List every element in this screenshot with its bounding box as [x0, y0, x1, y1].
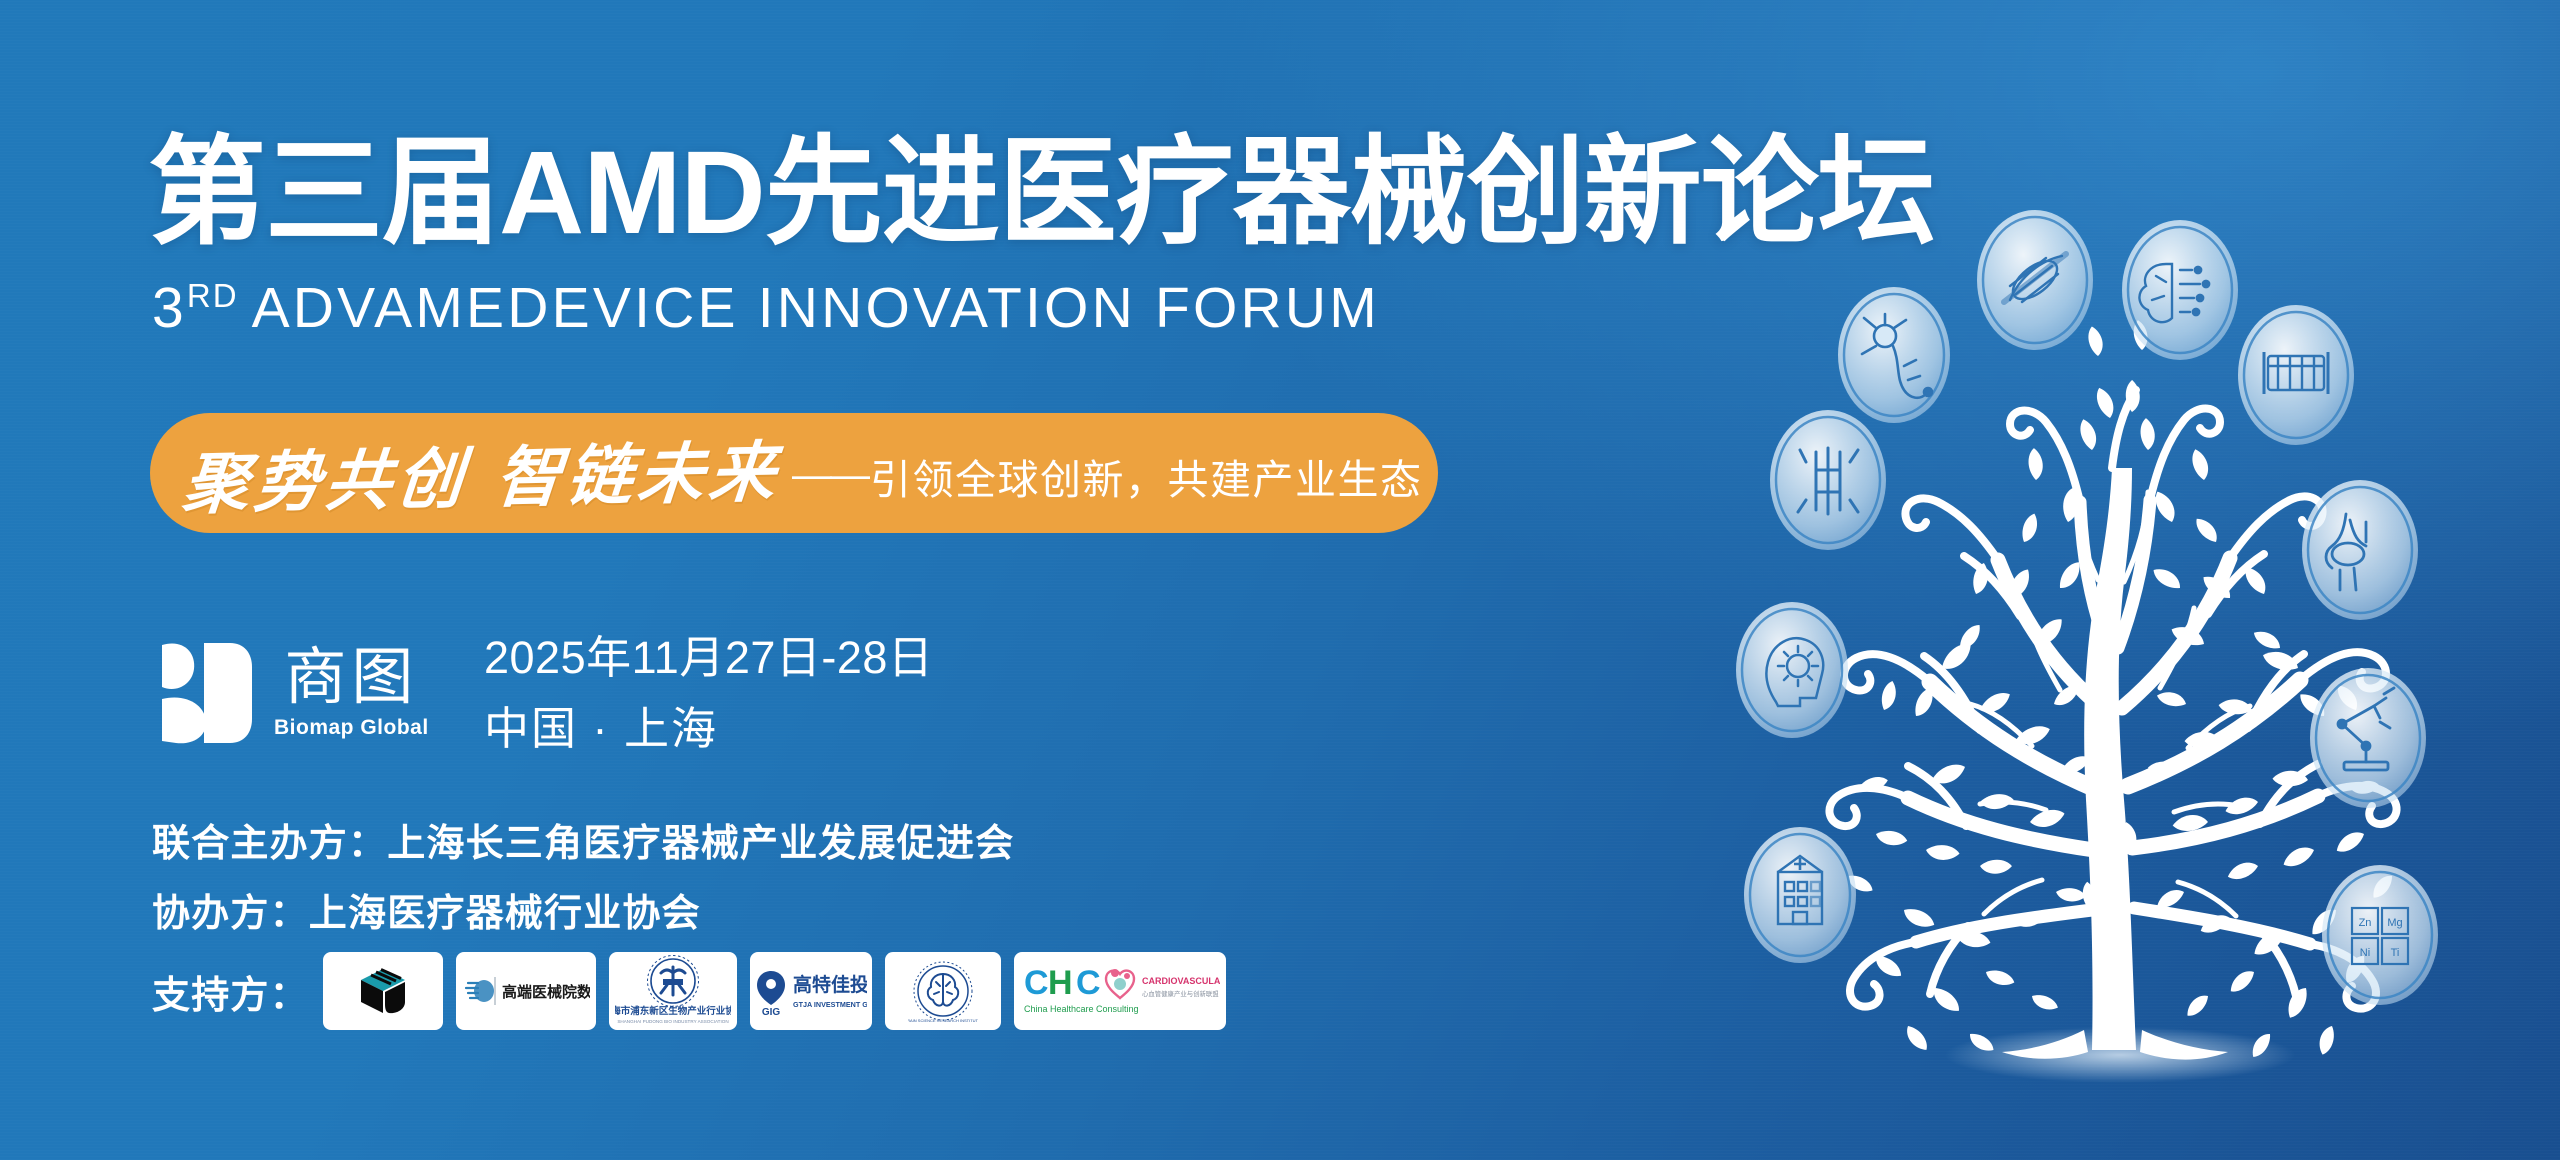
- supporter-logo-data-center[interactable]: 高端医械院数据中心: [456, 952, 596, 1030]
- supporter-3-text: 上海市浦东新区生物产业行业协会: [615, 1005, 731, 1017]
- biomap-wordmark: 商图 Biomap Global: [274, 645, 429, 739]
- medical-innovation-tree-artwork: Zn Mg Ni Ti: [1680, 150, 2560, 1160]
- svg-text:Ni: Ni: [2360, 947, 2370, 959]
- biomap-mark-icon: [152, 637, 260, 749]
- title-ordinal-suffix: RD: [187, 279, 239, 312]
- supporters-row: 支持方： 高端医械院数据中心: [152, 952, 1239, 1030]
- co-organizer-line: 协办方：上海医疗器械行业协会: [152, 882, 701, 937]
- svg-text:H: H: [1048, 964, 1073, 1002]
- svg-text:C: C: [1076, 964, 1101, 1002]
- supporter-6-partner-en: CARDIOVASCULAR LEAGUE: [1142, 976, 1220, 986]
- slogan-banner: 聚势共创 智链未来 —— 引领全球创新，共建产业生态: [150, 413, 1438, 533]
- slogan-subtitle: 引领全球创新，共建产业生态: [870, 446, 1423, 506]
- supporter-4-text: 高特佳投资: [793, 973, 867, 996]
- event-date: 2025年11月27日-28日: [484, 635, 933, 680]
- svg-text:Ti: Ti: [2391, 947, 2400, 959]
- svg-text:C: C: [1024, 964, 1049, 1002]
- supporter-6-text-en: China Healthcare Consulting: [1024, 1004, 1139, 1014]
- supporter-4-text-en: GTJA INVESTMENT GROUP: [793, 1000, 867, 1009]
- conference-banner: Zn Mg Ni Ti 第三届AMD先进医疗器械创新论坛 3RDADVAMEDE…: [0, 0, 2560, 1160]
- page-title-chinese: 第三届AMD先进医疗器械创新论坛: [148, 134, 1935, 252]
- supporters-label: 支持方：: [152, 964, 309, 1019]
- title-ordinal: 3: [152, 280, 187, 337]
- svg-text:Mg: Mg: [2387, 917, 2402, 929]
- title-english-rest: ADVAMEDEVICE INNOVATION FORUM: [252, 280, 1380, 337]
- supporter-logo-chc[interactable]: C H C China Healthcare Consulting CARDIO…: [1014, 952, 1226, 1030]
- slogan-dash: ——: [792, 453, 868, 498]
- event-date-location: 2025年11月27日-28日 中国 · 上海: [484, 635, 933, 751]
- slogan-calligraphy: 聚势共创 智链未来: [179, 419, 784, 527]
- supporter-logo-brain-institute[interactable]: WESTERN BRAIN SCIENCE RESEARCH INSTITUTE…: [885, 952, 1001, 1030]
- brand-name-chinese: 商图: [284, 645, 418, 710]
- biomap-global-logo: 商图 Biomap Global: [152, 625, 442, 760]
- svg-text:Zn: Zn: [2359, 917, 2372, 929]
- supporter-4-abbr: GIG: [762, 1007, 781, 1017]
- supporter-logo-pudong-bio[interactable]: 上海市浦东新区生物产业行业协会 SHANGHAI PUDONG BIO INDU…: [609, 952, 737, 1030]
- brand-and-date-row: 商图 Biomap Global 2025年11月27日-28日 中国 · 上海: [152, 625, 933, 760]
- supporter-2-text: 高端医械院数据中心: [502, 983, 590, 1001]
- supporter-3-text-en: SHANGHAI PUDONG BIO INDUSTRY ASSOCIATION: [617, 1019, 728, 1024]
- supporter-6-partner-cn: 心血管健康产业与创新联盟: [1142, 989, 1219, 998]
- supporter-logo-cube[interactable]: [323, 952, 443, 1030]
- page-title-english: 3RDADVAMEDEVICE INNOVATION FORUM: [152, 280, 1380, 337]
- supporter-logo-gtja[interactable]: GIG 高特佳投资 GTJA INVESTMENT GROUP: [750, 952, 872, 1030]
- event-location: 中国 · 上海: [484, 706, 933, 751]
- co-host-line: 联合主办方：上海长三角医疗器械产业发展促进会: [152, 812, 1014, 867]
- banner-content: 第三届AMD先进医疗器械创新论坛 3RDADVAMEDEVICE INNOVAT…: [0, 0, 1700, 1160]
- supporter-5-text-en: WESTERN BRAIN SCIENCE RESEARCH INSTITUTE…: [908, 1018, 978, 1023]
- brand-name-english: Biomap Global: [274, 716, 429, 740]
